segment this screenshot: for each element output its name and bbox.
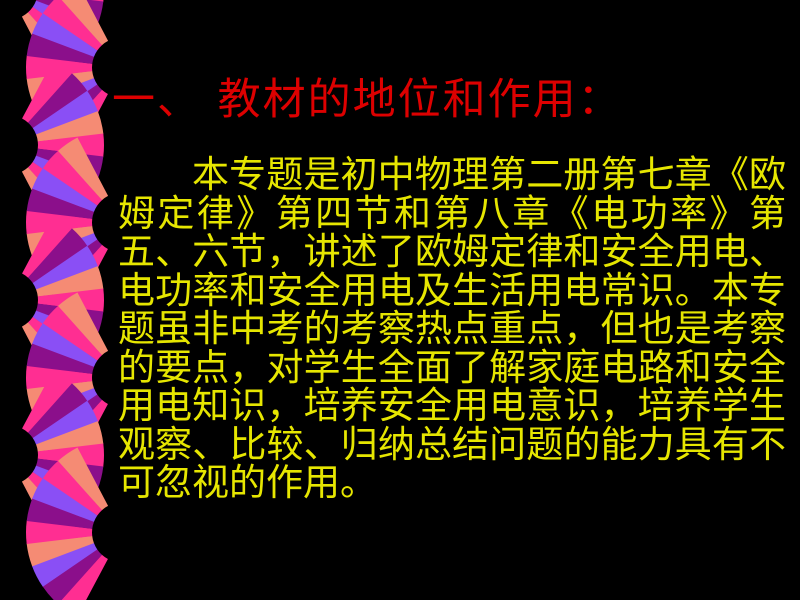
fan-ribbon-layer: [22, 0, 108, 600]
body-paragraph: 本专题是初中物理第二册第七章《欧姆定律》第四节和第八章《电功率》第五、六节，讲述…: [118, 156, 786, 503]
slide-canvas: 一、 教材的地位和作用： 本专题是初中物理第二册第七章《欧姆定律》第四节和第八章…: [0, 0, 800, 600]
fan-ribbon-border: [0, 0, 130, 600]
page-title: 一、 教材的地位和作用：: [112, 76, 712, 126]
